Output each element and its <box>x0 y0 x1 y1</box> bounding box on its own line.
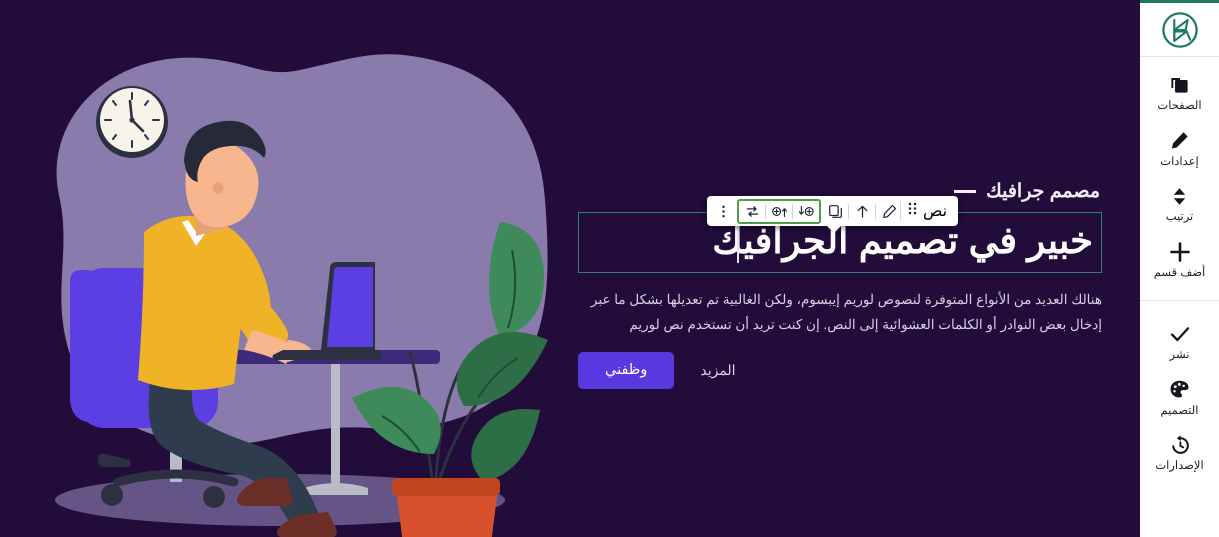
sidebar-item-settings[interactable]: إعدادات <box>1140 121 1219 177</box>
sidebar-item-publish-label: نشر <box>1170 350 1190 362</box>
toolbar-separator <box>848 204 849 219</box>
block-toolbar[interactable]: نص <box>707 196 958 226</box>
sidebar-item-add-section-label: أضف قسم <box>1154 268 1205 280</box>
drag-handle-icon[interactable] <box>908 202 917 220</box>
duplicate-icon[interactable] <box>824 200 846 222</box>
app-logo[interactable] <box>1140 3 1219 56</box>
page-preview-canvas[interactable]: مصمم جرافيك خبير في تصميم الجرافيك هنالك… <box>0 0 1140 537</box>
sidebar-item-publish[interactable]: نشر <box>1140 314 1219 370</box>
hero-body-text[interactable]: هنالك العديد من الأنواع المتوفرة لنصوص ل… <box>578 288 1102 338</box>
pages-icon <box>1169 74 1190 96</box>
overline-dash-decoration <box>954 190 976 193</box>
add-section-below-icon[interactable] <box>795 200 817 222</box>
hero-overline-label: مصمم جرافيك <box>986 180 1100 203</box>
sidebar-item-add-section[interactable]: أضف قسم <box>1140 232 1219 288</box>
sidebar-item-versions-label: الإصدارات <box>1155 461 1203 473</box>
more-link-button[interactable]: المزيد <box>700 362 735 379</box>
sidebar-item-design[interactable]: التصميم <box>1140 370 1219 426</box>
history-versions-icon <box>1169 434 1191 456</box>
sidebar-item-versions[interactable]: الإصدارات <box>1140 425 1219 481</box>
block-type-chip[interactable]: نص <box>900 201 953 221</box>
swap-replace-icon[interactable] <box>741 200 763 222</box>
edit-pencil-icon[interactable] <box>878 200 900 222</box>
sidebar-group-secondary: نشر التصميم <box>1140 301 1219 481</box>
check-publish-icon <box>1168 323 1192 345</box>
move-up-icon[interactable] <box>851 200 873 222</box>
editor-window: مصمم جرافيك خبير في تصميم الجرافيك هنالك… <box>0 0 1219 537</box>
editor-sidebar: الصفحات إعدادات ترتيب <box>1140 0 1219 537</box>
hero-cta-row: وظفني المزيد <box>578 352 1102 389</box>
sidebar-item-design-label: التصميم <box>1161 406 1199 418</box>
section-actions-group-highlighted[interactable] <box>737 199 821 224</box>
plus-icon <box>1168 241 1192 263</box>
pencil-settings-icon <box>1169 130 1190 152</box>
add-section-above-icon[interactable] <box>768 200 790 222</box>
toolbar-separator <box>765 204 766 219</box>
sort-arrange-icon <box>1169 185 1190 207</box>
sidebar-group-primary: الصفحات إعدادات ترتيب <box>1140 57 1219 287</box>
sidebar-item-pages-label: الصفحات <box>1157 101 1201 113</box>
sidebar-item-arrange[interactable]: ترتيب <box>1140 176 1219 232</box>
palette-design-icon <box>1169 379 1190 401</box>
wall-clock <box>96 86 168 158</box>
hire-me-button[interactable]: وظفني <box>578 352 674 389</box>
toolbar-separator <box>875 204 876 219</box>
toolbar-separator <box>792 204 793 219</box>
freelancer-at-desk-illustration <box>0 0 600 537</box>
sidebar-item-settings-label: إعدادات <box>1160 157 1198 169</box>
sidebar-item-arrange-label: ترتيب <box>1166 212 1194 224</box>
sidebar-item-pages[interactable]: الصفحات <box>1140 65 1219 121</box>
more-options-icon[interactable] <box>712 200 734 222</box>
block-type-label: نص <box>923 201 947 221</box>
